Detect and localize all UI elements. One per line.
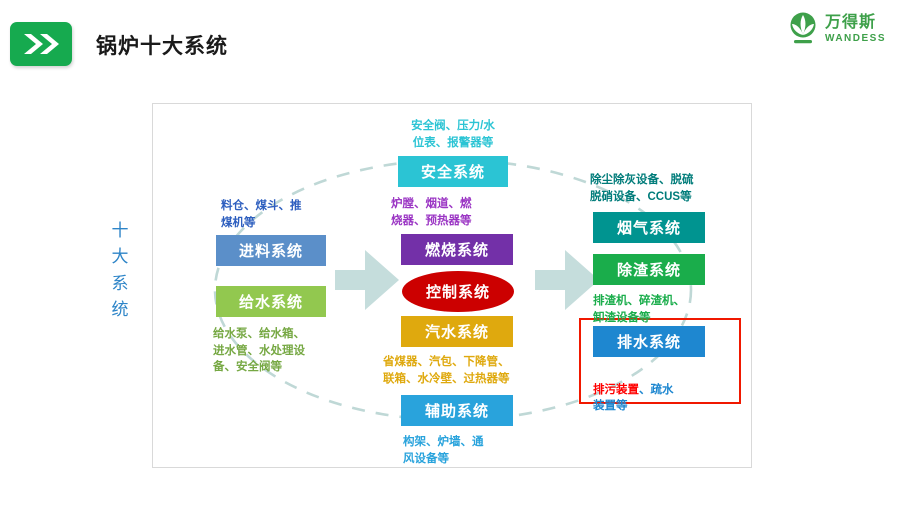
side-label-char: 十 — [106, 218, 134, 244]
caption-drainage-part1: 排污装置 — [593, 384, 639, 396]
side-label-char: 统 — [106, 297, 134, 323]
wandess-leaf-logo-icon — [788, 12, 818, 46]
caption-slag-removal-below: 排渣机、碎渣机、 卸渣设备等 — [593, 293, 743, 326]
node-combustion-system[interactable]: 燃烧系统 — [401, 234, 513, 265]
node-control-system[interactable]: 控制系统 — [402, 271, 514, 312]
page-title: 锅炉十大系统 — [96, 30, 228, 60]
side-label-char: 大 — [106, 244, 134, 270]
node-feed-system[interactable]: 进料系统 — [216, 235, 326, 266]
caption-drainage-below: 排污装置、疏水 装置等 — [593, 365, 733, 415]
caption-flue-gas-above: 除尘除灰设备、脱硫 脱硝设备、CCUS等 — [590, 172, 754, 205]
node-safety-system[interactable]: 安全系统 — [398, 156, 508, 187]
caption-feed-above: 料仓、煤斗、推 煤机等 — [221, 198, 351, 231]
side-label-ten-systems: 十 大 系 统 — [106, 218, 134, 323]
slide-header: 锅炉十大系统 万得斯 WANDESS — [0, 0, 904, 78]
brand-name-en: WANDESS — [825, 34, 886, 44]
node-water-supply-system[interactable]: 给水系统 — [216, 286, 326, 317]
caption-combustion-above: 炉膛、烟道、燃 烧器、预热器等 — [391, 196, 523, 229]
brand-logo: 万得斯 WANDESS — [788, 12, 886, 46]
caption-water-supply-below: 给水泵、给水箱、 进水管、水处理设 备、安全阀等 — [213, 326, 353, 376]
node-slag-removal-system[interactable]: 除渣系统 — [593, 254, 705, 285]
brand-name-cn: 万得斯 — [825, 15, 886, 31]
arrow-right-icon — [535, 250, 599, 310]
node-auxiliary-system[interactable]: 辅助系统 — [401, 395, 513, 426]
side-label-char: 系 — [106, 271, 134, 297]
arrow-right-icon — [335, 250, 399, 310]
slide-canvas: 锅炉十大系统 万得斯 WANDESS 十 大 系 统 — [0, 0, 904, 509]
node-flue-gas-system[interactable]: 烟气系统 — [593, 212, 705, 243]
node-steam-water-system[interactable]: 汽水系统 — [401, 316, 513, 347]
caption-steam-water-below: 省煤器、汽包、下降管、 联箱、水冷壁、过热器等 — [383, 354, 553, 387]
node-drainage-system[interactable]: 排水系统 — [593, 326, 705, 357]
caption-auxiliary-below: 构架、炉墙、通 风设备等 — [403, 434, 533, 467]
double-chevron-right-icon — [10, 22, 72, 66]
boiler-systems-diagram: 安全阀、压力/水 位表、报警器等 安全系统 料仓、煤斗、推 煤机等 进料系统 给… — [152, 103, 752, 468]
caption-safety-above: 安全阀、压力/水 位表、报警器等 — [386, 118, 520, 151]
